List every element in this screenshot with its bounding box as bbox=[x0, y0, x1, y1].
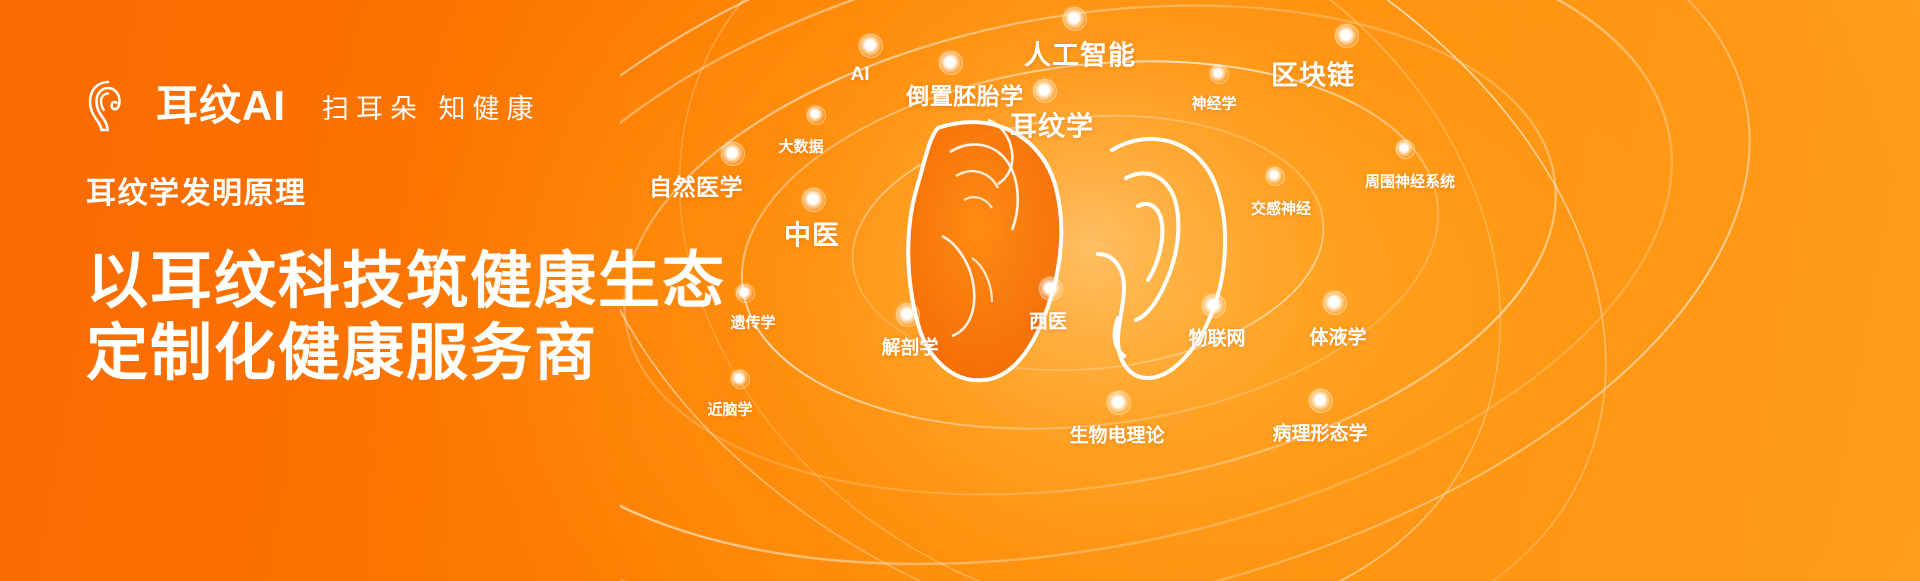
orbit-node-label[interactable]: 物联网 bbox=[1188, 324, 1245, 351]
orbit-node-label[interactable]: AI bbox=[851, 64, 870, 86]
orbit-node-dot bbox=[857, 32, 883, 58]
orbit-node-dot bbox=[729, 368, 749, 388]
orbit-node-dot bbox=[1061, 5, 1087, 31]
orbit-node-dot bbox=[894, 301, 920, 327]
brand-lockup: 耳纹AI 扫耳朵 知健康 bbox=[86, 78, 706, 134]
brand-tagline: 扫耳朵 知健康 bbox=[322, 87, 541, 126]
orbit-node-dot bbox=[1208, 63, 1228, 83]
orbit-node-label[interactable]: 神经学 bbox=[1191, 93, 1236, 114]
orbit-node-label[interactable]: 解剖学 bbox=[881, 333, 938, 360]
orbit-node-dot bbox=[1264, 165, 1284, 185]
hero-banner: 耳纹AI 扫耳朵 知健康 耳纹学发明原理 以耳纹科技筑健康生态 定制化健康服务商 bbox=[0, 0, 1920, 581]
orbit-node-label[interactable]: 耳纹学 bbox=[1010, 105, 1094, 144]
ear-spiral-icon bbox=[86, 80, 130, 132]
orbit-node-dot bbox=[1333, 22, 1359, 48]
orbit-node-dot bbox=[1037, 275, 1063, 301]
orbit-node-dot bbox=[1105, 389, 1131, 415]
orbit-node-label[interactable]: 体液学 bbox=[1309, 323, 1366, 350]
orbit-node-dot bbox=[1321, 289, 1347, 315]
orbit-node-dot bbox=[734, 282, 754, 302]
orbit-node-label[interactable]: 近脑学 bbox=[707, 399, 752, 420]
orbit-node-dot bbox=[800, 186, 826, 212]
headline-line-1: 以耳纹科技筑健康生态 bbox=[86, 246, 706, 318]
orbit-node-label[interactable]: 周围神经系统 bbox=[1365, 171, 1455, 192]
orbit-node-dot bbox=[937, 49, 963, 75]
headline-line-2: 定制化健康服务商 bbox=[86, 318, 706, 390]
hero-subtitle: 耳纹学发明原理 bbox=[86, 168, 706, 212]
orbit-node-label[interactable]: 病理形态学 bbox=[1272, 419, 1367, 446]
orbit-node-label[interactable]: 生物电理论 bbox=[1069, 421, 1164, 448]
orbit-node-dot bbox=[1200, 292, 1226, 318]
orbit-node-label[interactable]: 中医 bbox=[784, 214, 840, 253]
orbit-node-label[interactable]: 遗传学 bbox=[730, 312, 775, 333]
orbit-node-label[interactable]: 区块链 bbox=[1271, 54, 1355, 93]
orbit-node-label[interactable]: 自然医学 bbox=[649, 168, 743, 202]
orbit-node-label[interactable]: 交感神经 bbox=[1251, 198, 1311, 219]
orbit-node-dot bbox=[1307, 387, 1333, 413]
hero-headline: 以耳纹科技筑健康生态 定制化健康服务商 bbox=[86, 246, 706, 390]
orbit-node-label[interactable]: 西医 bbox=[1029, 307, 1067, 334]
orbit-node-label[interactable]: 人工智能 bbox=[1024, 34, 1136, 73]
hero-text-block: 耳纹AI 扫耳朵 知健康 耳纹学发明原理 以耳纹科技筑健康生态 定制化健康服务商 bbox=[86, 78, 706, 390]
orbit-node-label[interactable]: 倒置胚胎学 bbox=[906, 77, 1024, 111]
orbit-node-dot bbox=[1031, 77, 1057, 103]
orbit-node-dot bbox=[719, 140, 745, 166]
orbit-node-label[interactable]: 大数据 bbox=[778, 136, 823, 157]
center-illustration bbox=[620, 0, 1920, 581]
orbit-node-dot bbox=[805, 104, 825, 124]
knowledge-orbit-diagram: AI倒置胚胎学人工智能耳纹学神经学区块链周围神经系统交感神经大数据自然医学中医遗… bbox=[620, 0, 1920, 581]
orbit-node-dot bbox=[1394, 138, 1414, 158]
logo-wordmark: 耳纹AI bbox=[156, 85, 286, 127]
